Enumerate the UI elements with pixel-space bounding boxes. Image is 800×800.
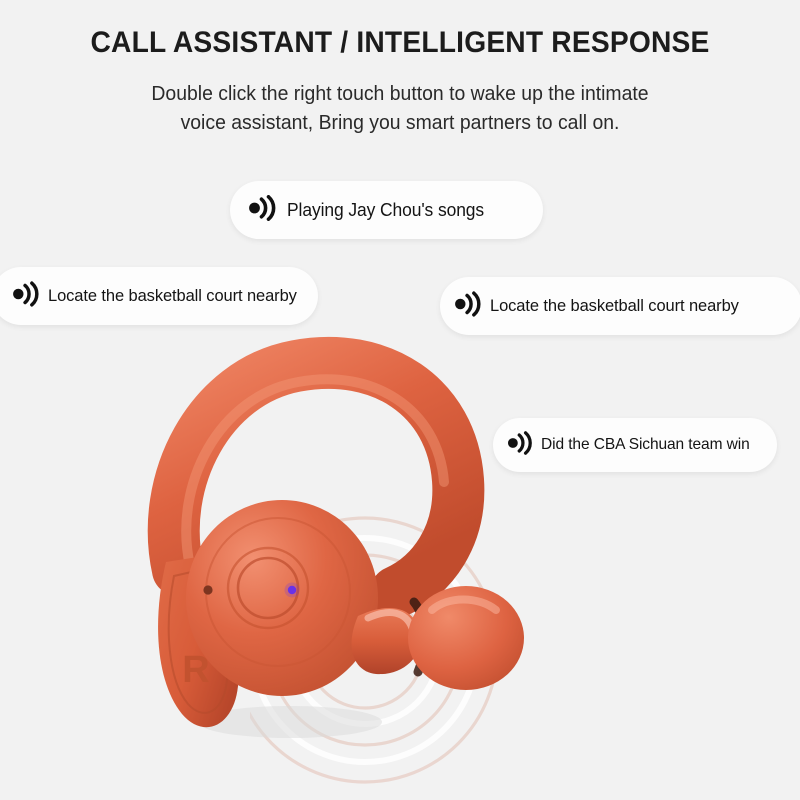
page-title: CALL ASSISTANT / INTELLIGENT RESPONSE	[24, 26, 776, 60]
sound-wave-icon	[248, 195, 280, 226]
speech-bubble-locate-court-left[interactable]: Locate the basketball court nearby	[0, 267, 318, 325]
speech-bubble-label: Locate the basketball court nearby	[490, 296, 739, 316]
microphone-hole	[203, 585, 212, 594]
subtitle-line-2: voice assistant, Bring you smart partner…	[109, 109, 691, 138]
speech-bubble-locate-court-right[interactable]: Locate the basketball court nearby	[440, 277, 800, 335]
product-banner: CALL ASSISTANT / INTELLIGENT RESPONSE Do…	[0, 0, 800, 800]
wireless-sport-earbud: R	[100, 330, 660, 790]
sound-wave-icon	[12, 281, 43, 312]
led-indicator-glow	[285, 583, 300, 598]
subtitle-line-1: Double click the right touch button to w…	[109, 80, 691, 109]
speech-bubble-playing-songs[interactable]: Playing Jay Chou's songs	[230, 181, 543, 239]
speech-bubble-label: Playing Jay Chou's songs	[287, 200, 484, 221]
page-subtitle: Double click the right touch button to w…	[109, 80, 691, 138]
sound-wave-icon	[454, 291, 485, 322]
speech-bubble-label: Locate the basketball court nearby	[48, 286, 297, 306]
